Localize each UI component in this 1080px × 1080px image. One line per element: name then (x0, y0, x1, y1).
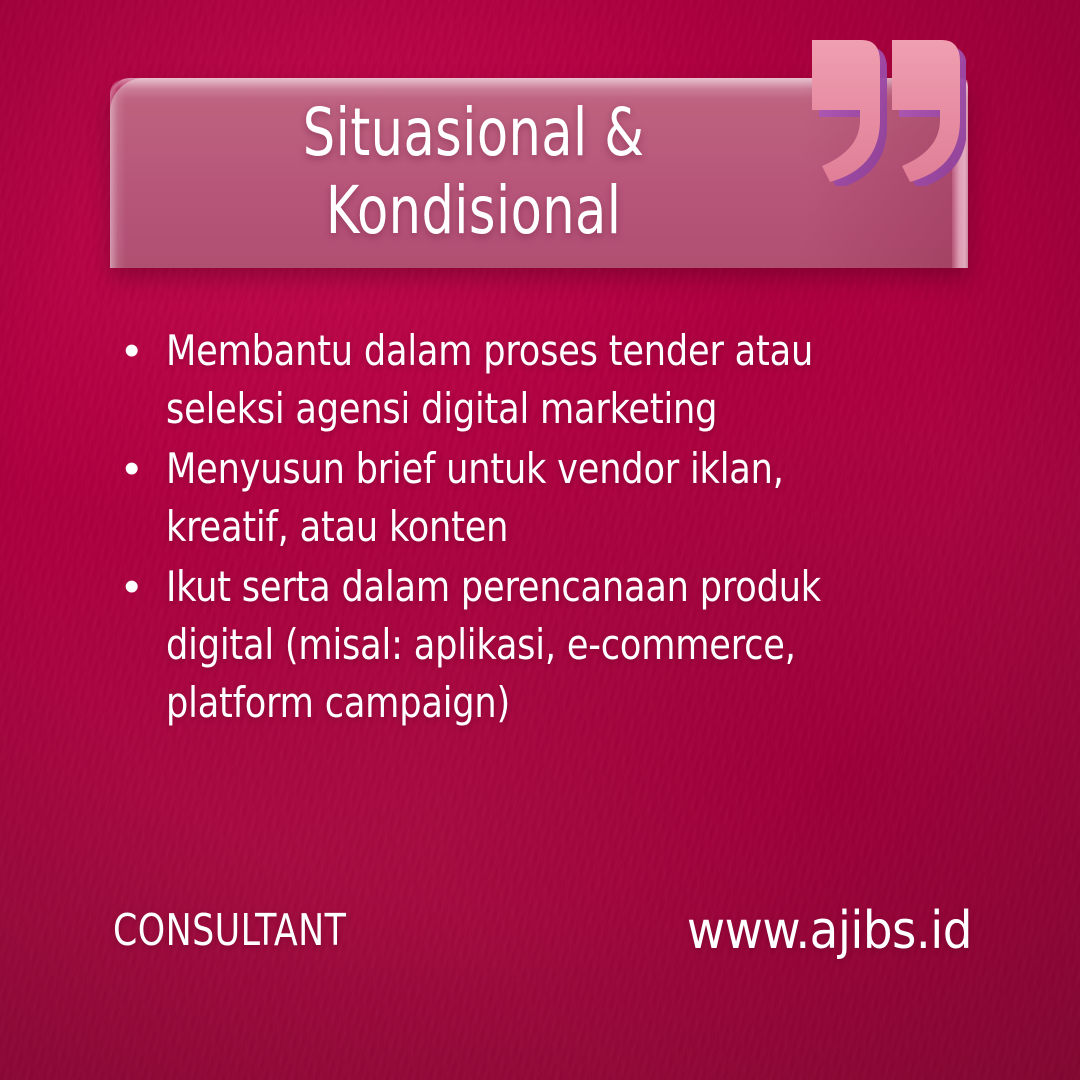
quotation-mark-icon (806, 26, 966, 186)
list-item: • Menyusun brief untuk vendor iklan, kre… (116, 440, 936, 556)
list-item: • Membantu dalam proses tender atau sele… (116, 322, 936, 438)
list-item-text: Ikut serta dalam perencanaan produk digi… (166, 558, 882, 732)
list-item: • Ikut serta dalam perencanaan produk di… (116, 558, 936, 732)
bullet-list: • Membantu dalam proses tender atau sele… (116, 322, 936, 734)
banner-left-edge-highlight (110, 78, 126, 268)
bullet-marker-icon: • (116, 440, 166, 498)
list-item-text: Membantu dalam proses tender atau seleks… (166, 322, 882, 438)
list-item-text: Menyusun brief untuk vendor iklan, kreat… (166, 440, 882, 556)
slide-canvas: What We Do Situasional & Kondisional (0, 0, 1080, 1080)
bullet-marker-icon: • (116, 558, 166, 616)
bullet-marker-icon: • (116, 322, 166, 380)
footer-category-label: CONSULTANT (113, 905, 346, 957)
page-title: Situasional & Kondisional (170, 94, 908, 250)
footer-website-label: www.ajibs.id (687, 902, 972, 960)
watermark-what-we-do: What We Do (1074, 180, 1080, 880)
